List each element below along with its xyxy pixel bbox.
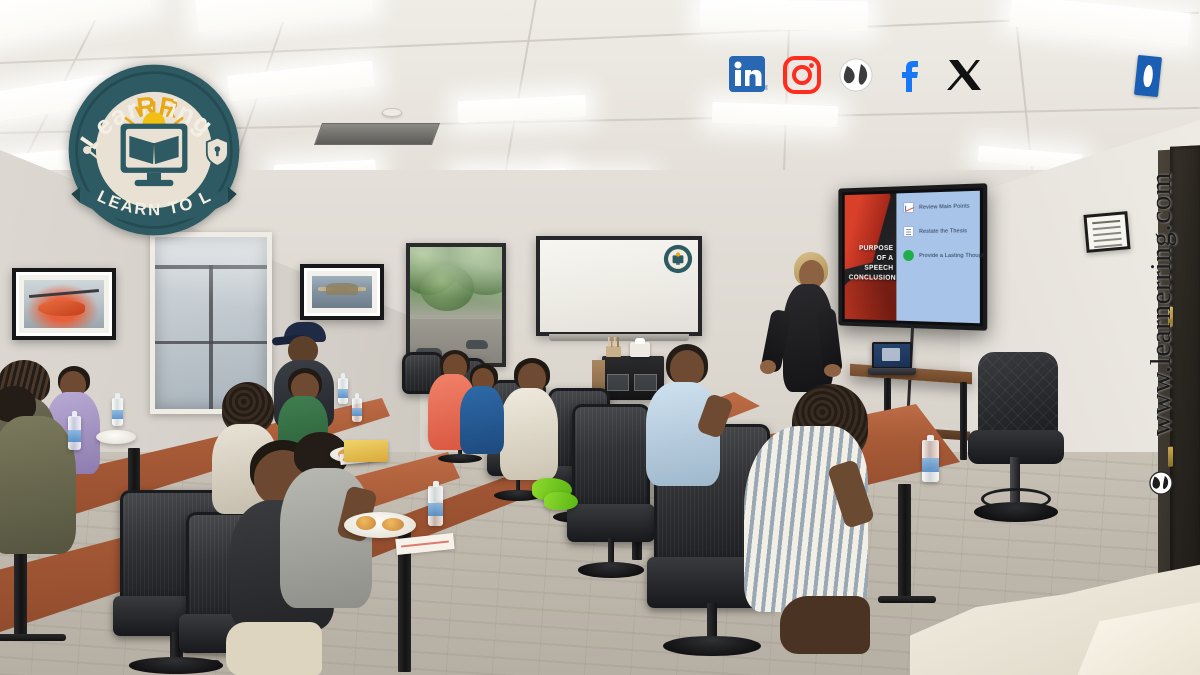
snack — [382, 518, 404, 531]
ceiling-sign — [1134, 55, 1162, 97]
leg — [226, 622, 322, 675]
chair-back — [572, 404, 650, 511]
wall-mounted-tv: PURPOSE OF A SPEECH CONCLUSION Review Ma… — [838, 183, 987, 331]
table-leg — [898, 484, 911, 602]
slide-bullet: Review Main Points — [903, 200, 974, 213]
ceiling-light — [700, 0, 868, 31]
water-bottle — [428, 486, 443, 526]
ceiling-light — [458, 95, 587, 124]
slide-bullet: Provide a Lasting Thought — [903, 250, 974, 261]
office-chair[interactable] — [572, 404, 650, 576]
svg-text:®: ® — [764, 85, 768, 92]
ceiling-light — [712, 102, 839, 127]
laptop-keyboard[interactable] — [868, 368, 916, 375]
document-icon — [903, 226, 914, 237]
linkedin-icon[interactable]: ® — [728, 55, 768, 95]
osprey-photo — [300, 264, 384, 320]
paper-plate — [344, 512, 416, 538]
student — [0, 386, 82, 554]
laptop-screen — [872, 342, 912, 369]
slide-bullet-text: Review Main Points — [919, 203, 970, 210]
helicopter-photo — [12, 268, 116, 340]
shoe — [544, 492, 578, 510]
podium-leg — [960, 382, 967, 460]
ceiling-light — [227, 60, 375, 101]
website-url[interactable]: www.learnerring.com — [1145, 172, 1178, 436]
student — [744, 384, 880, 652]
certificate-frame — [1083, 211, 1130, 253]
chair-base — [578, 562, 644, 577]
globe-icon[interactable] — [836, 55, 876, 95]
instagram-icon[interactable] — [782, 55, 822, 95]
leg — [780, 596, 870, 654]
student — [500, 358, 562, 482]
water-bottle — [68, 416, 81, 450]
photo-image — [24, 280, 104, 328]
smoke-detector-icon — [382, 108, 402, 117]
ceiling-light — [1009, 0, 1191, 45]
slide-bullet-panel: Review Main Points Restate the Thesis Pr… — [897, 191, 980, 324]
chair-post — [707, 603, 716, 640]
drafting-chair[interactable] — [968, 352, 1064, 522]
table-foot — [0, 634, 66, 641]
chair-seat — [567, 504, 654, 542]
chair-back — [978, 352, 1059, 440]
presentation-slide: PURPOSE OF A SPEECH CONCLUSION Review Ma… — [845, 191, 980, 324]
learnerring-logo: Learne RR ing — [66, 62, 242, 238]
snack-box — [344, 440, 388, 462]
whiteboard-logo-decal — [663, 244, 693, 274]
green-dot-icon — [903, 250, 914, 261]
head — [670, 350, 704, 386]
slide-bullet: Restate the Thesis — [903, 225, 974, 237]
torso — [0, 416, 76, 554]
classroom-photo-stage: PURPOSE OF A SPEECH CONCLUSION Review Ma… — [0, 0, 1200, 675]
door-hinge — [1168, 447, 1173, 467]
torso — [500, 388, 558, 480]
slide-bullet-text: Provide a Lasting Thought — [919, 252, 987, 258]
torso — [460, 386, 504, 454]
table-foot — [878, 596, 936, 603]
water-bottle — [922, 440, 939, 482]
exterior-window — [406, 243, 506, 367]
water-bottle — [338, 378, 348, 404]
snack — [356, 516, 376, 530]
slide-title-panel: PURPOSE OF A SPEECH CONCLUSION — [845, 193, 897, 320]
water-bottle — [352, 398, 362, 422]
ceiling-light — [194, 0, 373, 33]
slide-bullet-text: Restate the Thesis — [919, 228, 967, 235]
globe-icon — [1148, 470, 1174, 496]
student — [460, 364, 506, 456]
paper-plate — [96, 430, 136, 444]
whiteboard — [536, 236, 702, 336]
ceiling-light — [0, 0, 152, 47]
student — [646, 344, 724, 494]
hand — [824, 364, 841, 377]
x-twitter-icon[interactable] — [944, 55, 984, 95]
pen-cup — [606, 346, 621, 357]
slide-title: PURPOSE OF A SPEECH CONCLUSION — [849, 244, 894, 283]
ceiling-vent — [314, 123, 440, 145]
water-bottle — [112, 398, 123, 426]
chart-icon — [903, 202, 914, 213]
chair-base — [974, 502, 1058, 522]
facebook-icon[interactable] — [890, 55, 930, 95]
presenter — [772, 252, 844, 394]
photo-image — [312, 276, 372, 308]
arm — [760, 360, 776, 374]
social-icons-bar: ® — [728, 55, 984, 95]
